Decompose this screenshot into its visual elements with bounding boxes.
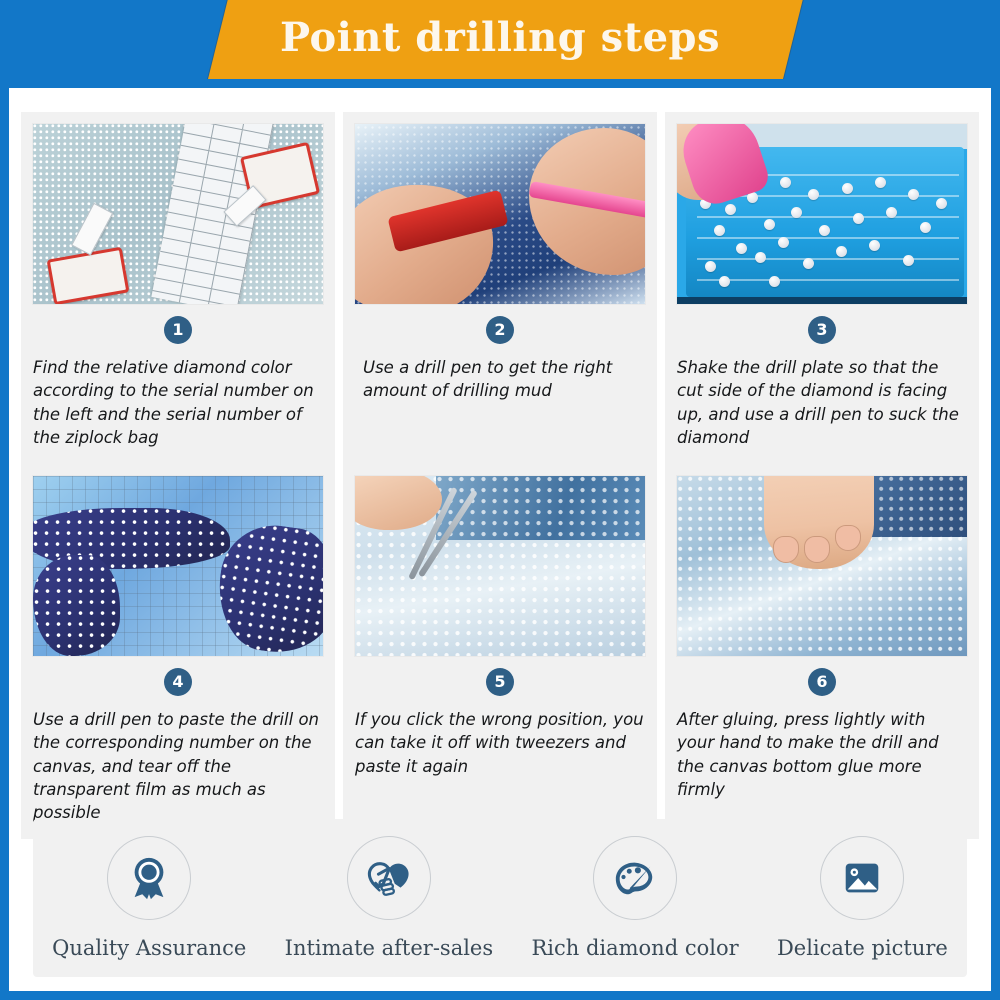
dark-bead-region bbox=[868, 476, 967, 537]
step-number-badge-5: 5 bbox=[486, 668, 514, 696]
photo-background bbox=[355, 476, 645, 656]
step-number-badge-1: 1 bbox=[164, 316, 192, 344]
steps-grid-row-1: 1 Find the relative diamond color accord… bbox=[21, 112, 979, 464]
tweezers-on-canvas-photo bbox=[355, 476, 645, 656]
step-description-4: Use a drill pen to paste the drill on th… bbox=[33, 708, 323, 825]
step-card-3: 3 Shake the drill plate so that the cut … bbox=[665, 112, 979, 464]
feature-icon-circle bbox=[107, 836, 191, 920]
feature-bar: Quality Assurance bbox=[33, 819, 967, 977]
step-card-1: 1 Find the relative diamond color accord… bbox=[21, 112, 335, 464]
image-picture-icon bbox=[839, 855, 885, 901]
header-banner: Point drilling steps bbox=[0, 0, 1000, 79]
pasted-drills-region bbox=[33, 555, 120, 656]
feature-label: Delicate picture bbox=[777, 936, 948, 960]
step-description-5: If you click the wrong position, you can… bbox=[355, 708, 645, 778]
step-description-6: After gluing, press lightly with your ha… bbox=[677, 708, 967, 802]
blue-drill-tray-photo bbox=[677, 124, 967, 304]
steps-grid-row-2: 4 Use a drill pen to paste the drill on … bbox=[21, 464, 979, 839]
step-description-1: Find the relative diamond color accordin… bbox=[33, 356, 323, 450]
step-card-6: 6 After gluing, press lightly with your … bbox=[665, 464, 979, 839]
fingernail bbox=[835, 525, 861, 552]
drill-pen-with-glue-mud-photo bbox=[355, 124, 645, 304]
feature-icon-circle bbox=[593, 836, 677, 920]
paint-palette-icon bbox=[612, 855, 658, 901]
content-frame: 1 Find the relative diamond color accord… bbox=[0, 79, 1000, 1000]
canvas-with-symbol-grid-photo bbox=[33, 476, 323, 656]
feature-icon-circle bbox=[347, 836, 431, 920]
feature-label: Rich diamond color bbox=[531, 936, 738, 960]
feature-icon-circle bbox=[820, 836, 904, 920]
step-card-5: 5 If you click the wrong position, you c… bbox=[343, 464, 657, 839]
photo-background bbox=[677, 124, 967, 304]
diamond-bags-and-color-chart-photo bbox=[33, 124, 323, 304]
step-card-2: 2 Use a drill pen to get the right amoun… bbox=[343, 112, 657, 464]
feature-label: Intimate after-sales bbox=[285, 936, 493, 960]
fingernail bbox=[773, 536, 799, 563]
step-number-badge-2: 2 bbox=[486, 316, 514, 344]
photo-background bbox=[33, 476, 323, 656]
step-number-badge-4: 4 bbox=[164, 668, 192, 696]
page-title: Point drilling steps bbox=[0, 0, 1000, 79]
handshake-heart-icon bbox=[366, 855, 412, 901]
step-card-4: 4 Use a drill pen to paste the drill on … bbox=[21, 464, 335, 839]
feature-delicate-picture: Delicate picture bbox=[771, 836, 954, 960]
step-number-badge-3: 3 bbox=[808, 316, 836, 344]
step-number-badge-6: 6 bbox=[808, 668, 836, 696]
feature-intimate-after-sales: Intimate after-sales bbox=[279, 836, 499, 960]
content-frame-inner: 1 Find the relative diamond color accord… bbox=[9, 88, 991, 991]
feature-rich-diamond-color: Rich diamond color bbox=[525, 836, 744, 960]
fingernail bbox=[804, 536, 830, 563]
promo-infographic-page: Point drilling steps bbox=[0, 0, 1000, 1000]
photo-background bbox=[677, 476, 967, 656]
hand-pressing-canvas-photo bbox=[677, 476, 967, 656]
feature-quality-assurance: Quality Assurance bbox=[46, 836, 252, 960]
step-description-3: Shake the drill plate so that the cut si… bbox=[677, 356, 967, 450]
step-description-2: Use a drill pen to get the right amount … bbox=[347, 356, 653, 403]
fingers bbox=[355, 476, 442, 530]
feature-label: Quality Assurance bbox=[52, 936, 246, 960]
photo-background bbox=[355, 124, 645, 304]
pressing-hand bbox=[764, 476, 874, 570]
award-ribbon-icon bbox=[126, 855, 172, 901]
